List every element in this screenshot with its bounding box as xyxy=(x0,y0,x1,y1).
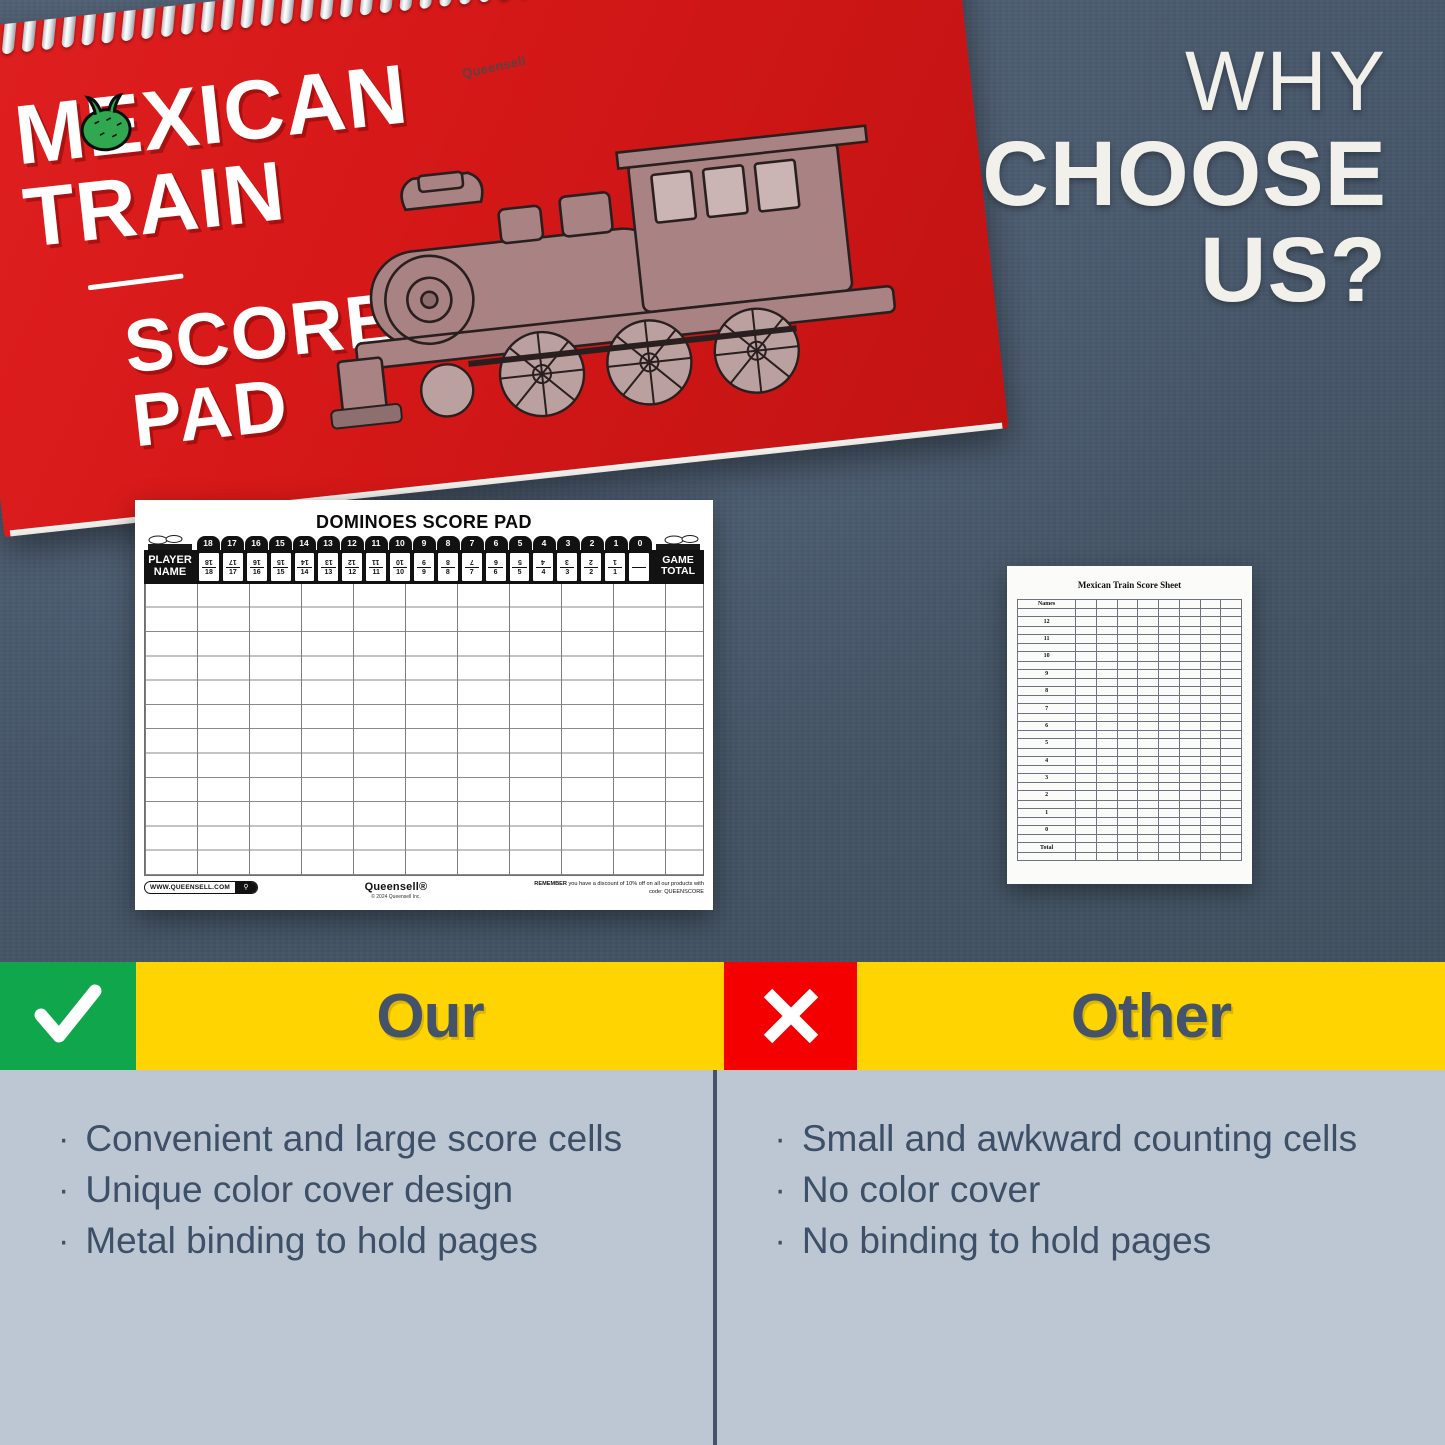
competitor-table: Names1211109876543210Total xyxy=(1017,599,1242,861)
competitor-cell xyxy=(1221,731,1242,739)
competitor-cell xyxy=(1138,713,1159,721)
competitor-cell xyxy=(1138,652,1159,661)
domino-tile: 1111 xyxy=(365,552,387,582)
competitor-cell xyxy=(1221,852,1242,860)
competitor-cell xyxy=(1138,773,1159,782)
competitor-cell xyxy=(1117,600,1138,609)
competitor-cell xyxy=(1221,843,1242,852)
domino-tile-top: 14 xyxy=(301,558,309,565)
competitor-row-label: 1 xyxy=(1018,808,1076,817)
competitor-cell xyxy=(1179,634,1200,643)
domino-tile-divider xyxy=(273,567,287,568)
competitor-cell xyxy=(1096,617,1117,626)
check-badge xyxy=(0,962,136,1070)
promo-note: REMEMBER you have a discount of 10% off … xyxy=(534,881,704,896)
our-score-pad: DOMINOES SCORE PAD 181716151413121110987… xyxy=(135,500,713,910)
column-divider xyxy=(713,1070,717,1445)
competitor-cell xyxy=(1200,669,1221,678)
competitor-cell xyxy=(1221,721,1242,730)
domino-tiles: 1818171716161515141413131212111110109988… xyxy=(196,550,652,584)
competitor-cell xyxy=(1096,800,1117,808)
competitor-cell xyxy=(1096,843,1117,852)
competitor-cell xyxy=(1076,826,1097,835)
competitor-cell xyxy=(1221,644,1242,652)
competitor-cell xyxy=(1159,783,1180,791)
competitor-cell xyxy=(1179,713,1200,721)
competitor-cell xyxy=(1221,826,1242,835)
competitor-row-label: 7 xyxy=(1018,704,1076,713)
competitor-spacer-row xyxy=(1018,835,1242,843)
competitor-cell xyxy=(1117,773,1138,782)
competitor-spacer-row xyxy=(1018,852,1242,860)
domino-tile: 99 xyxy=(413,552,435,582)
competitor-cell xyxy=(1117,731,1138,739)
competitor-row: 3 xyxy=(1018,773,1242,782)
competitor-cell xyxy=(1076,852,1097,860)
competitor-spacer-row xyxy=(1018,731,1242,739)
competitor-cell xyxy=(1096,756,1117,765)
competitor-row: 8 xyxy=(1018,686,1242,695)
competitor-cell xyxy=(1076,634,1097,643)
domino-tile: 66 xyxy=(485,552,507,582)
player-name-header: PLAYER NAME xyxy=(144,550,196,584)
competitor-cell xyxy=(1179,678,1200,686)
comparison-bullet: ·Unique color cover design xyxy=(58,1169,699,1212)
competitor-cell xyxy=(1159,669,1180,678)
domino-tile-top: 3 xyxy=(565,558,569,565)
competitor-cell xyxy=(1179,669,1200,678)
competitor-cell xyxy=(1117,835,1138,843)
competitor-cell xyxy=(1117,652,1138,661)
domino-tile-top: 18 xyxy=(205,558,213,565)
domino-tile: 1212 xyxy=(341,552,363,582)
headline-line-1: WHY xyxy=(982,42,1387,120)
domino-tile: 77 xyxy=(461,552,483,582)
competitor-cell xyxy=(1159,773,1180,782)
competitor-cell xyxy=(1076,843,1097,852)
domino-tile: 55 xyxy=(509,552,531,582)
competitor-cell xyxy=(1076,748,1097,756)
domino-tile-top: 7 xyxy=(470,558,474,565)
bullet-text: Unique color cover design xyxy=(85,1169,513,1212)
competitor-cell xyxy=(1076,721,1097,730)
bullet-dot-icon: · xyxy=(58,1224,69,1258)
x-badge xyxy=(724,962,857,1070)
competitor-cell xyxy=(1076,678,1097,686)
competitor-cell xyxy=(1117,696,1138,704)
locomotive-illustration xyxy=(290,42,985,471)
competitor-cell xyxy=(1221,791,1242,800)
competitor-cell xyxy=(1179,617,1200,626)
spiral-binding xyxy=(0,0,911,58)
competitor-cell xyxy=(1200,835,1221,843)
domino-tile-bottom: 16 xyxy=(253,569,261,576)
competitor-cell xyxy=(1159,765,1180,773)
competitor-cell xyxy=(1138,609,1159,617)
competitor-cell xyxy=(1159,634,1180,643)
bullet-dot-icon: · xyxy=(775,1173,786,1207)
competitor-cell xyxy=(1200,800,1221,808)
domino-tile: 1313 xyxy=(317,552,339,582)
bullet-dot-icon: · xyxy=(775,1122,786,1156)
domino-tile-top: 1 xyxy=(613,558,617,565)
competitor-cell xyxy=(1018,713,1076,721)
competitor-cell xyxy=(1018,678,1076,686)
comparison-banner-row: Our Other xyxy=(0,962,1445,1070)
competitor-cell xyxy=(1200,626,1221,634)
domino-tile-bottom: 17 xyxy=(229,569,237,576)
domino-tile-bottom: 5 xyxy=(518,569,522,576)
competitor-cell xyxy=(1076,696,1097,704)
competitor-cell xyxy=(1200,609,1221,617)
column-number: 6 xyxy=(485,536,508,550)
domino-tile-bottom: 10 xyxy=(396,569,404,576)
competitor-row: 7 xyxy=(1018,704,1242,713)
domino-tile-divider xyxy=(250,567,264,568)
competitor-cell xyxy=(1018,731,1076,739)
competitor-cell xyxy=(1221,634,1242,643)
competitor-cell xyxy=(1076,765,1097,773)
competitor-cell xyxy=(1117,678,1138,686)
column-number: 0 xyxy=(629,536,652,550)
domino-tile-top: 8 xyxy=(446,558,450,565)
competitor-cell xyxy=(1221,678,1242,686)
competitor-spacer-row xyxy=(1018,818,1242,826)
competitor-cell xyxy=(1159,696,1180,704)
competitor-cell xyxy=(1117,713,1138,721)
competitor-cell xyxy=(1179,626,1200,634)
competitor-cell xyxy=(1138,748,1159,756)
competitor-cell xyxy=(1200,773,1221,782)
competitor-cell xyxy=(1096,835,1117,843)
other-banner-label: Other xyxy=(857,962,1445,1070)
domino-tile-top: 4 xyxy=(541,558,545,565)
competitor-cell xyxy=(1138,696,1159,704)
competitor-cell xyxy=(1018,852,1076,860)
competitor-cell xyxy=(1117,661,1138,669)
competitor-cell xyxy=(1096,678,1117,686)
column-number: 1 xyxy=(605,536,628,550)
domino-tile-divider xyxy=(441,567,455,568)
domino-tile: 33 xyxy=(556,552,578,582)
competitor-cell xyxy=(1221,783,1242,791)
column-number: 10 xyxy=(389,536,412,550)
competitor-cell xyxy=(1179,696,1200,704)
competitor-cell xyxy=(1179,652,1200,661)
competitor-cell xyxy=(1159,808,1180,817)
website-url-pill[interactable]: WWW.QUEENSELL.COM ⚲ xyxy=(144,881,258,894)
domino-tile: 1010 xyxy=(389,552,411,582)
train-smoke-graphic xyxy=(144,535,196,550)
competitor-spacer-row xyxy=(1018,644,1242,652)
domino-tile-divider xyxy=(584,567,598,568)
competitor-row: 10 xyxy=(1018,652,1242,661)
competitor-spacer-row xyxy=(1018,678,1242,686)
our-banner-label: Our xyxy=(136,962,724,1070)
competitor-row: 5 xyxy=(1018,739,1242,748)
domino-tile-bottom: 6 xyxy=(494,569,498,576)
competitor-cell xyxy=(1200,696,1221,704)
competitor-cell xyxy=(1138,731,1159,739)
competitor-spacer-row xyxy=(1018,748,1242,756)
column-number: 8 xyxy=(437,536,460,550)
domino-tile-divider xyxy=(297,567,311,568)
column-number: 11 xyxy=(365,536,388,550)
domino-tile-bottom: 9 xyxy=(422,569,426,576)
competitor-spacer-row xyxy=(1018,783,1242,791)
train-smoke-graphic-right xyxy=(652,535,704,550)
bullet-dot-icon: · xyxy=(775,1224,786,1258)
competitor-cell xyxy=(1096,818,1117,826)
domino-tile-bottom: 14 xyxy=(301,569,309,576)
column-number: 12 xyxy=(341,536,364,550)
competitor-row: Total xyxy=(1018,843,1242,852)
domino-tile-top: 15 xyxy=(277,558,285,565)
competitor-cell xyxy=(1076,808,1097,817)
domino-tile-divider xyxy=(369,567,383,568)
column-number: 4 xyxy=(533,536,556,550)
competitor-cell xyxy=(1117,800,1138,808)
bullet-dot-icon: · xyxy=(58,1122,69,1156)
domino-tile: 88 xyxy=(437,552,459,582)
competitor-row: 0 xyxy=(1018,826,1242,835)
competitor-cell xyxy=(1138,818,1159,826)
competitor-cell xyxy=(1117,748,1138,756)
competitor-cell xyxy=(1159,852,1180,860)
column-number: 13 xyxy=(317,536,340,550)
competitor-cell xyxy=(1018,783,1076,791)
competitor-row-label: 6 xyxy=(1018,721,1076,730)
domino-tile-top: 6 xyxy=(494,558,498,565)
competitor-cell xyxy=(1076,686,1097,695)
score-grid xyxy=(144,584,704,876)
bullet-text: No color cover xyxy=(802,1169,1041,1212)
competitor-cell xyxy=(1179,721,1200,730)
cactus-icon xyxy=(69,88,141,157)
domino-tile-bottom: 1 xyxy=(613,569,617,576)
competitor-cell xyxy=(1076,791,1097,800)
competitor-cell xyxy=(1221,739,1242,748)
competitor-row-label: 8 xyxy=(1018,686,1076,695)
page-title: WHY CHOOSE US? xyxy=(982,42,1387,313)
website-url-text: WWW.QUEENSELL.COM xyxy=(145,882,235,894)
competitor-cell xyxy=(1018,609,1076,617)
domino-tile-divider xyxy=(608,567,622,568)
domino-tile-bottom: 8 xyxy=(446,569,450,576)
competitor-cell xyxy=(1096,783,1117,791)
domino-tile-bottom: 7 xyxy=(470,569,474,576)
game-total-header: GAME TOTAL xyxy=(652,550,704,584)
column-number-strip: 1817161514131211109876543210 xyxy=(196,536,652,550)
competitor-cell xyxy=(1117,783,1138,791)
competitor-cell xyxy=(1221,686,1242,695)
competitor-cell xyxy=(1117,756,1138,765)
competitor-cell xyxy=(1096,739,1117,748)
competitor-cell xyxy=(1159,748,1180,756)
competitor-cell xyxy=(1096,748,1117,756)
competitor-cell xyxy=(1200,826,1221,835)
competitor-cell xyxy=(1138,617,1159,626)
competitor-cell xyxy=(1096,713,1117,721)
domino-tile-divider xyxy=(512,567,526,568)
our-benefits-list: ·Convenient and large score cells·Unique… xyxy=(0,1070,729,1445)
competitor-cell xyxy=(1179,739,1200,748)
competitor-cell xyxy=(1159,617,1180,626)
domino-tile: 1414 xyxy=(294,552,316,582)
domino-tile-divider xyxy=(632,567,646,568)
score-pad-number-header: 1817161514131211109876543210 xyxy=(144,535,704,550)
competitor-row: 4 xyxy=(1018,756,1242,765)
competitor-cell xyxy=(1096,731,1117,739)
competitor-cell xyxy=(1159,843,1180,852)
domino-tile-top: 2 xyxy=(589,558,593,565)
competitor-cell xyxy=(1138,686,1159,695)
competitor-cell xyxy=(1200,686,1221,695)
competitor-cell xyxy=(1096,721,1117,730)
competitor-cell xyxy=(1018,748,1076,756)
competitor-cell xyxy=(1200,765,1221,773)
competitor-cell xyxy=(1159,600,1180,609)
competitor-cell xyxy=(1200,661,1221,669)
cover-divider xyxy=(88,273,184,290)
competitor-cell xyxy=(1117,843,1138,852)
domino-tile-divider xyxy=(417,567,431,568)
comparison-bullet: ·No binding to hold pages xyxy=(775,1220,1416,1263)
competitor-cell xyxy=(1221,808,1242,817)
competitor-cell xyxy=(1076,773,1097,782)
competitor-cell xyxy=(1179,686,1200,695)
competitor-cell xyxy=(1096,644,1117,652)
competitor-cell xyxy=(1221,696,1242,704)
competitor-cell xyxy=(1200,721,1221,730)
competitor-cell xyxy=(1076,609,1097,617)
competitor-cell xyxy=(1018,696,1076,704)
competitor-cell xyxy=(1117,704,1138,713)
competitor-cell xyxy=(1200,731,1221,739)
competitor-spacer-row xyxy=(1018,609,1242,617)
competitor-cell xyxy=(1096,773,1117,782)
domino-tile: 1717 xyxy=(222,552,244,582)
competitor-row: 9 xyxy=(1018,669,1242,678)
competitor-cell xyxy=(1179,800,1200,808)
competitor-cell xyxy=(1200,713,1221,721)
domino-tile: 1616 xyxy=(246,552,268,582)
competitor-cell xyxy=(1096,791,1117,800)
competitor-cell xyxy=(1179,600,1200,609)
competitor-cell xyxy=(1159,791,1180,800)
competitor-cell xyxy=(1179,783,1200,791)
headline-line-3: US? xyxy=(982,228,1387,314)
competitor-cell xyxy=(1221,609,1242,617)
competitor-cell xyxy=(1076,818,1097,826)
competitor-cell xyxy=(1159,826,1180,835)
competitor-cell xyxy=(1138,634,1159,643)
competitor-row-label: 11 xyxy=(1018,634,1076,643)
competitor-spacer-row xyxy=(1018,626,1242,634)
competitor-cell xyxy=(1117,818,1138,826)
comparison-bullet: ·No color cover xyxy=(775,1169,1416,1212)
competitor-cell xyxy=(1200,843,1221,852)
column-number: 18 xyxy=(197,536,220,550)
comparison-section: Our Other ·Convenient and large score ce… xyxy=(0,962,1445,1445)
bullet-dot-icon: · xyxy=(58,1173,69,1207)
competitor-cell xyxy=(1096,669,1117,678)
domino-tile-top: 5 xyxy=(518,558,522,565)
column-number: 16 xyxy=(245,536,268,550)
competitor-cell xyxy=(1138,626,1159,634)
competitor-row-label: 10 xyxy=(1018,652,1076,661)
competitor-cell xyxy=(1200,783,1221,791)
competitor-cell xyxy=(1200,600,1221,609)
competitor-row: 2 xyxy=(1018,791,1242,800)
competitor-row-label: 9 xyxy=(1018,669,1076,678)
competitor-cell xyxy=(1200,791,1221,800)
competitor-row-label: 4 xyxy=(1018,756,1076,765)
competitor-cell xyxy=(1159,678,1180,686)
competitor-cell xyxy=(1179,791,1200,800)
competitor-cell xyxy=(1096,808,1117,817)
competitor-cell xyxy=(1117,617,1138,626)
domino-tile-bottom: 2 xyxy=(589,569,593,576)
competitor-cell xyxy=(1221,765,1242,773)
competitor-cell xyxy=(1018,644,1076,652)
competitor-row: 6 xyxy=(1018,721,1242,730)
domino-tile-top: 10 xyxy=(396,558,404,565)
competitor-cell xyxy=(1200,678,1221,686)
domino-tile-bottom: 11 xyxy=(372,569,379,576)
bullet-text: Small and awkward counting cells xyxy=(802,1118,1357,1161)
competitor-cell xyxy=(1221,704,1242,713)
competitor-row-label: 5 xyxy=(1018,739,1076,748)
domino-tile-top: 9 xyxy=(422,558,426,565)
competitor-cell xyxy=(1117,644,1138,652)
competitor-row-label: 3 xyxy=(1018,773,1076,782)
competitor-cell xyxy=(1117,826,1138,835)
competitor-cell xyxy=(1117,852,1138,860)
competitor-cell xyxy=(1221,835,1242,843)
competitor-cell xyxy=(1221,600,1242,609)
competitor-cell xyxy=(1096,826,1117,835)
competitor-cell xyxy=(1221,661,1242,669)
competitor-cell xyxy=(1159,704,1180,713)
competitor-cell xyxy=(1159,644,1180,652)
domino-tile-bottom: 15 xyxy=(277,569,285,576)
competitor-cell xyxy=(1159,652,1180,661)
competitor-cell xyxy=(1221,800,1242,808)
competitor-cell xyxy=(1076,617,1097,626)
domino-tile-divider xyxy=(202,567,216,568)
competitor-cell xyxy=(1159,818,1180,826)
competitor-cell xyxy=(1096,704,1117,713)
competitor-cell xyxy=(1138,852,1159,860)
competitor-row-label: Total xyxy=(1018,843,1076,852)
competitor-cell xyxy=(1159,800,1180,808)
competitor-cell xyxy=(1159,686,1180,695)
competitor-header-row: Names xyxy=(1018,600,1242,609)
competitor-cell xyxy=(1076,800,1097,808)
comparison-bullet: ·Convenient and large score cells xyxy=(58,1118,699,1161)
competitor-spacer-row xyxy=(1018,661,1242,669)
competitor-cell xyxy=(1138,661,1159,669)
competitor-cell xyxy=(1096,634,1117,643)
competitor-spacer-row xyxy=(1018,713,1242,721)
score-pad-domino-row: PLAYER NAME 1818171716161515141413131212… xyxy=(144,550,704,584)
competitor-cell xyxy=(1117,739,1138,748)
competitor-cell xyxy=(1179,644,1200,652)
competitor-cell xyxy=(1200,748,1221,756)
competitor-cell xyxy=(1159,756,1180,765)
competitor-cell xyxy=(1200,644,1221,652)
